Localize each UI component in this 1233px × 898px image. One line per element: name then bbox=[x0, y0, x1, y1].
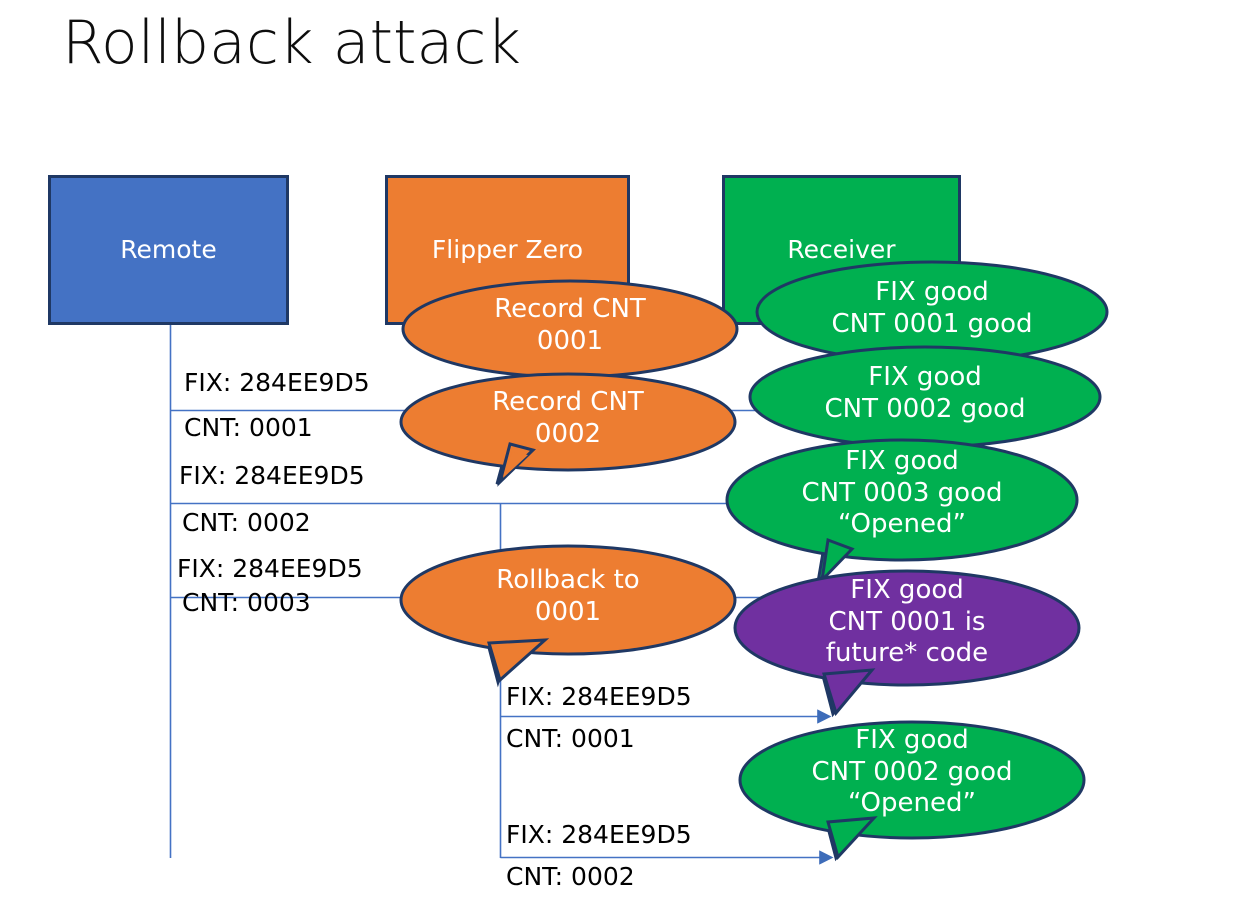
callout-fix-good-cnt-0002[interactable] bbox=[750, 347, 1100, 447]
callouts-layer bbox=[0, 0, 1233, 898]
callout-record-cnt-0001[interactable] bbox=[403, 281, 737, 377]
callout-rollback-to-0001[interactable] bbox=[401, 546, 735, 682]
callout-fix-good-cnt-0003[interactable] bbox=[727, 440, 1077, 582]
callout-fix-good-opened[interactable] bbox=[740, 722, 1084, 858]
slide-canvas: Rollback attack Remote Flipper Zero Rece… bbox=[0, 0, 1233, 898]
callout-fix-good-future-code[interactable] bbox=[735, 571, 1079, 714]
callout-record-cnt-0002[interactable] bbox=[401, 374, 735, 484]
